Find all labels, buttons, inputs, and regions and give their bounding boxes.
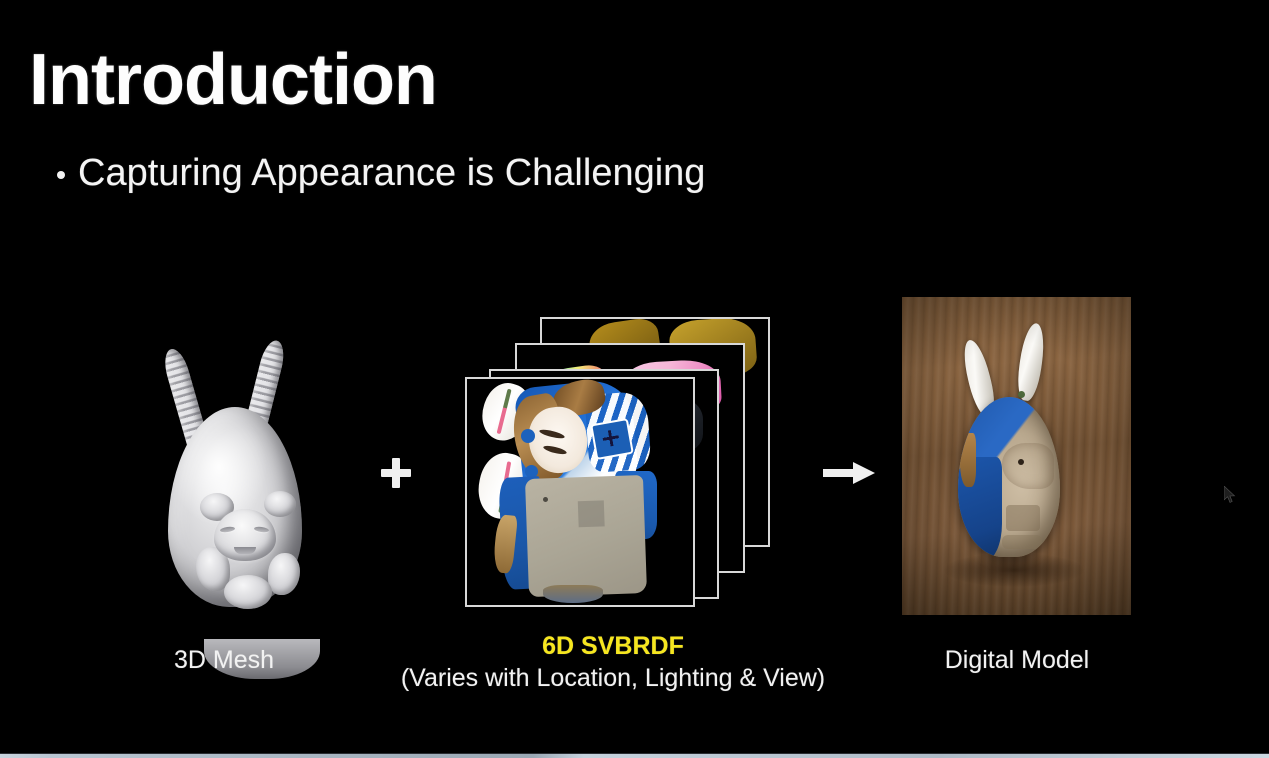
atlas-body-dot: [543, 497, 548, 502]
window-bottom-strip: [0, 754, 1269, 758]
texture-atlas-albedo: [467, 379, 693, 605]
atlas-badge: [590, 418, 634, 460]
mesh-relief-blob: [268, 553, 300, 595]
arrow-shaft: [823, 469, 855, 477]
mesh-relief-blob: [264, 491, 296, 517]
texture-card-front: [465, 377, 695, 607]
caption-3d-mesh: 3D Mesh: [100, 646, 348, 676]
atlas-foot: [543, 585, 603, 603]
photo-vignette: [902, 297, 1131, 615]
caption-svbrdf-highlight: 6D SVBRDF: [400, 632, 826, 662]
caption-digital-model: Digital Model: [900, 646, 1134, 676]
mesh-figurine-icon: [140, 335, 330, 610]
mesh-relief-blob: [224, 575, 272, 609]
caption-svbrdf: 6D SVBRDF (Varies with Location, Lightin…: [400, 632, 826, 693]
presentation-slide: Introduction Capturing Appearance is Cha…: [0, 0, 1269, 758]
digital-model-photo: [902, 297, 1131, 615]
diagram-figure-row: 3D Mesh 6D SVBRDF (Varies with Location,…: [0, 0, 1269, 758]
plus-operator-icon: [381, 458, 411, 488]
caption-svbrdf-sub: (Varies with Location, Lighting & View): [401, 664, 825, 692]
texture-stack-icon: [463, 315, 783, 607]
arrow-head: [853, 462, 875, 484]
atlas-dot: [521, 429, 535, 443]
arrow-right-icon: [823, 462, 875, 484]
mouse-pointer-icon: [1224, 486, 1237, 504]
mesh-mouth: [234, 547, 256, 554]
atlas-body: [525, 475, 647, 597]
